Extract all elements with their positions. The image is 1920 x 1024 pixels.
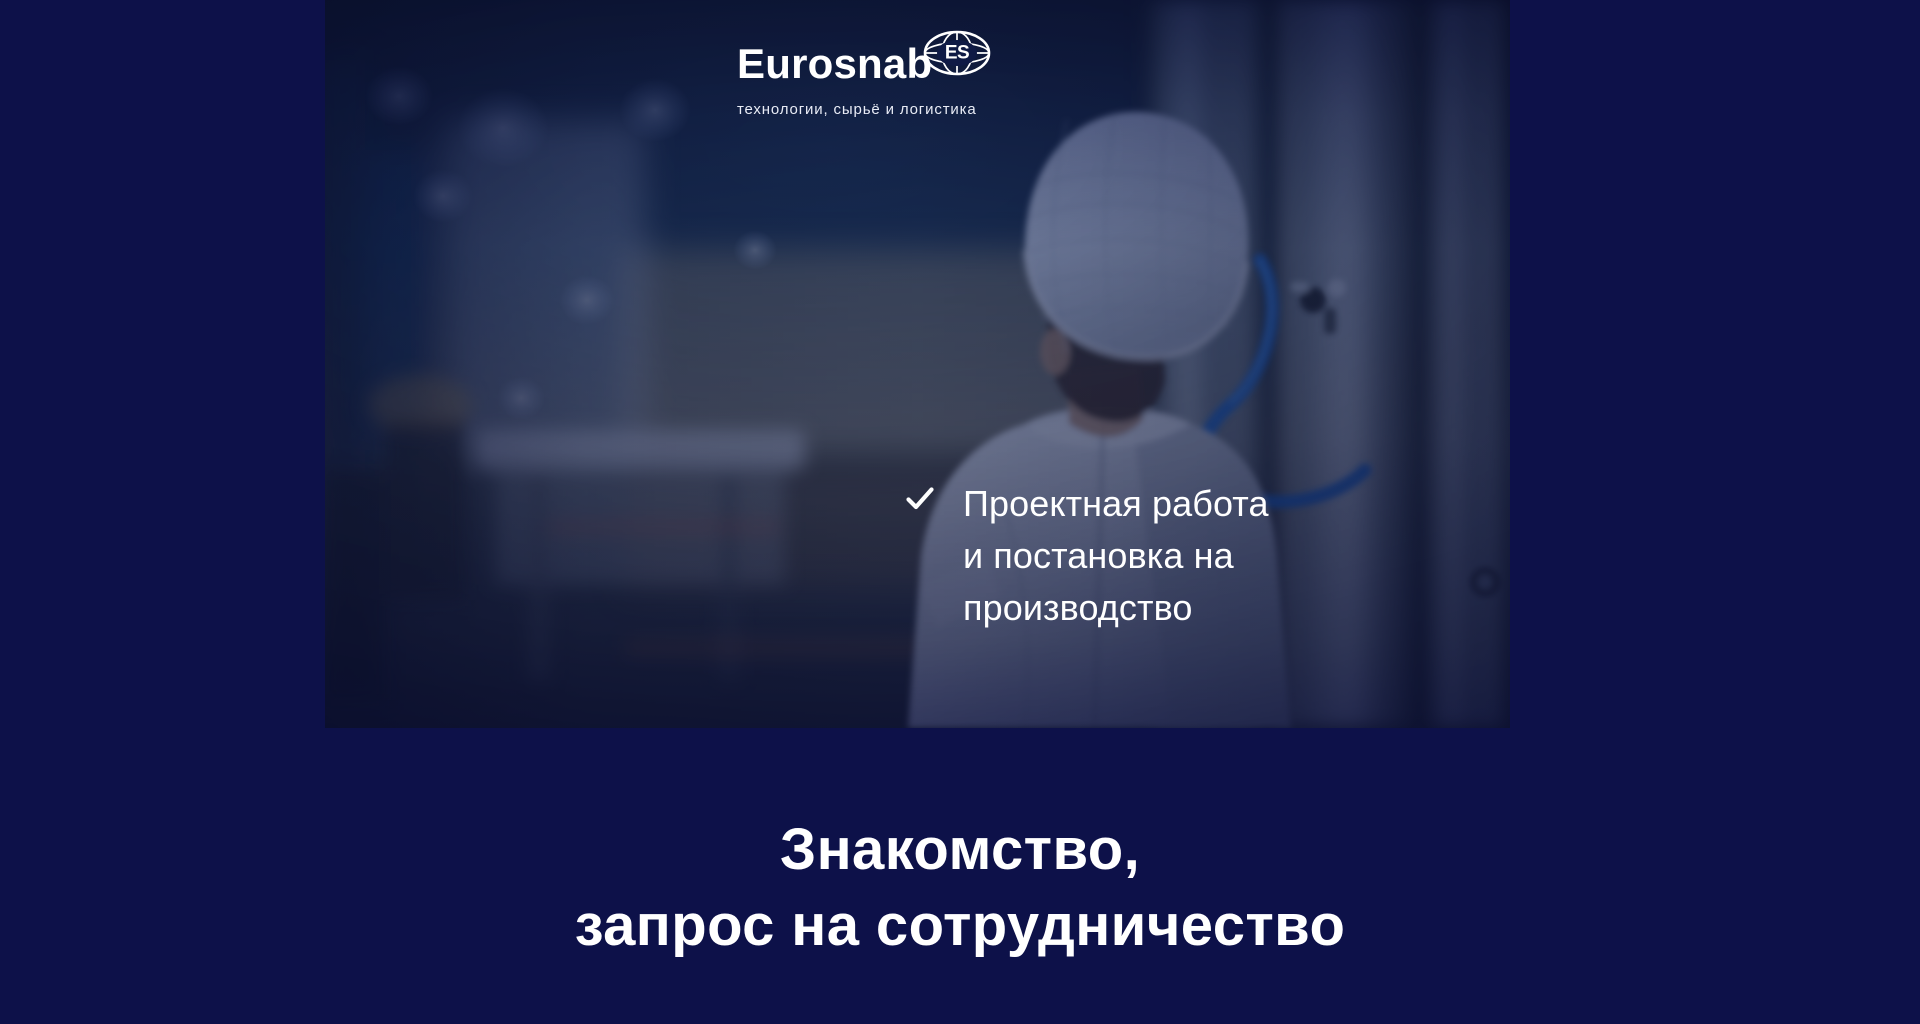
- hero-photo: Eurosnab ES технологии, сырьё и логистик…: [325, 0, 1510, 728]
- feature-bullet-text: Проектная работа и постановка на произво…: [963, 478, 1465, 634]
- logo-tagline: технологии, сырьё и логистика: [737, 100, 1037, 120]
- feature-bullet-line-1: Проектная работа: [963, 478, 1465, 530]
- es-globe-icon: ES: [923, 29, 991, 77]
- page-title-line-1: Знакомство,: [0, 812, 1920, 888]
- eurosnab-logo: Eurosnab ES технологии, сырьё и логистик…: [737, 38, 1037, 120]
- page-title: Знакомство, запрос на сотрудничество: [0, 812, 1920, 964]
- slide-root: Eurosnab ES технологии, сырьё и логистик…: [0, 0, 1920, 1024]
- feature-bullet-line-3: производство: [963, 582, 1465, 634]
- page-title-line-2: запрос на сотрудничество: [0, 888, 1920, 964]
- feature-bullet-line-2: и постановка на: [963, 530, 1465, 582]
- logo-wordmark-row: Eurosnab ES: [737, 38, 1037, 96]
- es-monogram-text: ES: [945, 43, 969, 64]
- logo-wordmark: Eurosnab: [737, 38, 1037, 90]
- check-icon: [905, 478, 963, 514]
- feature-bullet: Проектная работа и постановка на произво…: [905, 478, 1465, 634]
